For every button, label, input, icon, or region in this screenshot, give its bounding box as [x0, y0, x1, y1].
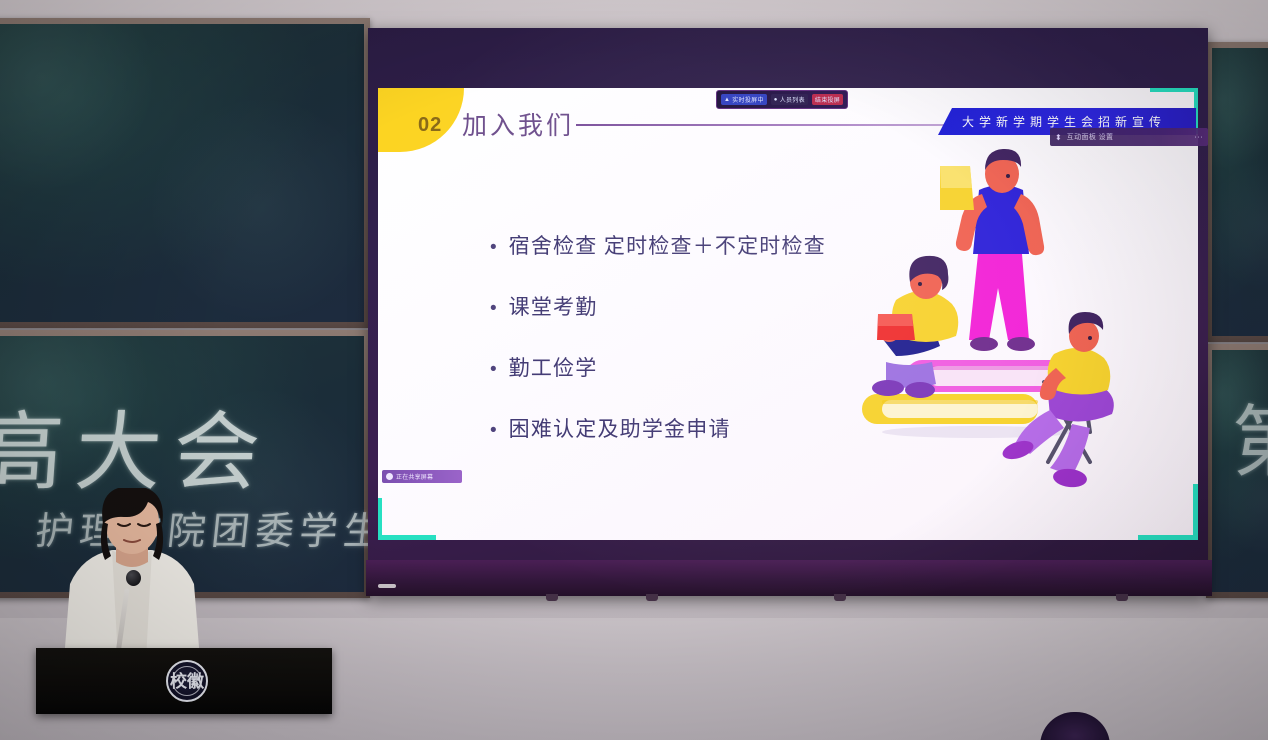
classroom-photo-scene: 高大会 护理学院团委学生会 第 02 加入我们 大学新学期学生会招新宣传 •	[0, 0, 1268, 740]
list-item: • 宿舍检查 定时检查＋不定时检查	[490, 230, 910, 260]
bullet-marker-icon: •	[490, 299, 497, 318]
floating-panel-label: 互动面板 设置	[1067, 132, 1114, 142]
screen-share-status-label: 正在共享屏幕	[396, 472, 433, 481]
chalkboard-surface	[0, 24, 364, 322]
projector-bottom-rail	[366, 560, 1212, 596]
slide-title: 加入我们	[462, 106, 574, 142]
casting-status-chip[interactable]: ▲ 实时投屏中	[721, 94, 767, 105]
stop-casting-label: 结束投屏	[815, 95, 840, 104]
lectern-podium: 校徽	[36, 648, 332, 714]
chalkboard-surface	[1212, 48, 1268, 336]
projector-rail-tab	[1116, 594, 1128, 601]
floating-control-panel[interactable]: ⬍ 互动面板 设置 ⋯	[1050, 128, 1208, 146]
teal-corner-accent	[1150, 88, 1198, 92]
presentation-slide: 02 加入我们 大学新学期学生会招新宣传 • 宿舍检查 定时检查＋不定时检查 •…	[378, 88, 1198, 540]
bullet-marker-icon: •	[490, 360, 497, 379]
students-reading-illustration	[858, 132, 1178, 522]
microphone-head-icon	[126, 570, 141, 586]
more-options-icon[interactable]: ⋯	[1194, 132, 1203, 143]
list-item: • 勤工俭学	[490, 352, 910, 382]
projector-rail-marker	[378, 584, 396, 588]
stop-casting-chip[interactable]: 结束投屏	[812, 94, 843, 105]
projector-rail-tab	[546, 594, 558, 601]
chalk-right-text: 第	[1232, 380, 1268, 492]
section-number-label: 02	[418, 114, 442, 137]
illustration-svg	[858, 132, 1178, 522]
emblem-mark-label: 校徽	[170, 673, 204, 690]
bullet-text: 勤工俭学	[509, 352, 598, 382]
projector-rail-tab	[646, 594, 658, 601]
teal-corner-accent	[1193, 484, 1198, 540]
participants-chip[interactable]: ● 人员列表	[771, 94, 808, 105]
cast-icon: ▲	[724, 97, 730, 103]
projector-rail-tab	[834, 594, 846, 601]
people-icon: ●	[774, 97, 778, 103]
participants-label: 人员列表	[780, 95, 805, 104]
drag-handle-icon[interactable]: ⬍	[1055, 133, 1062, 142]
bullet-marker-icon: •	[490, 421, 497, 440]
casting-status-label: 实时投屏中	[732, 95, 764, 104]
bullet-list: • 宿舍检查 定时检查＋不定时检查 • 课堂考勤 • 勤工俭学 • 困难认定及助…	[490, 230, 910, 474]
list-item: • 课堂考勤	[490, 291, 910, 321]
teal-corner-accent	[1138, 535, 1198, 540]
bullet-marker-icon: •	[490, 238, 497, 257]
teal-corner-accent	[378, 498, 382, 540]
school-emblem: 校徽	[166, 660, 208, 702]
bullet-text: 困难认定及助学金申请	[509, 413, 731, 443]
bullet-text: 课堂考勤	[509, 291, 598, 321]
chalkboard-left-upper	[0, 18, 370, 328]
teal-corner-accent	[378, 535, 436, 540]
recording-dot-icon	[386, 473, 393, 480]
screen-share-status-badge[interactable]: 正在共享屏幕	[382, 470, 462, 483]
bullet-text: 宿舍检查 定时检查＋不定时检查	[509, 230, 826, 260]
list-item: • 困难认定及助学金申请	[490, 413, 910, 443]
chalkboard-right-upper	[1206, 42, 1268, 342]
screen-share-top-toolbar[interactable]: ▲ 实时投屏中 ● 人员列表 结束投屏	[716, 90, 848, 109]
